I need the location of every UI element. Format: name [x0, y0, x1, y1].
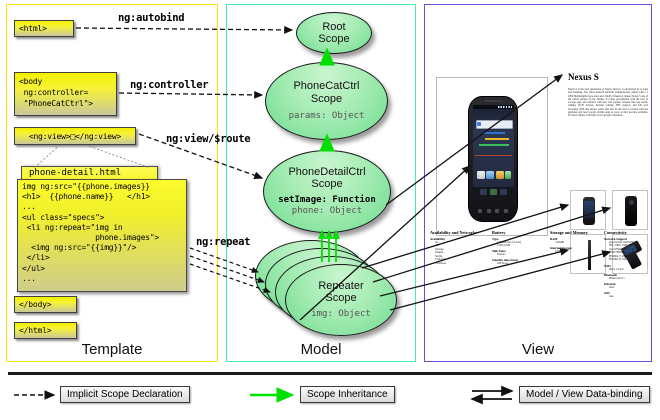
scope-repeater-prop-img: img: Object	[311, 309, 371, 320]
view-spec-value-1-0-1: 1500 mAH	[492, 244, 544, 248]
legend-label-model-view-data-binding: Model / View Data-binding	[519, 386, 650, 403]
tag-ngview: <ng:view>□</ng:view>	[14, 127, 136, 145]
scope-phonecatctrl-title: PhoneCatCtrl Scope	[293, 80, 359, 105]
view-spec-heading-2: Storage and Memory	[550, 230, 602, 235]
tag-body-controller: <body ng:controller= "PhoneCatCtrl">	[14, 72, 117, 116]
view-spec-heading-0: Availability and Networks	[430, 230, 480, 235]
scope-phonecatctrl-prop-params: params: Object	[289, 111, 365, 122]
note-code: img ng:src="{{phone.images}} <h1> {{phon…	[17, 179, 187, 292]
scope-repeater: Repeater Scope img: Object	[285, 264, 397, 336]
scope-root: Root Scope	[296, 12, 372, 54]
view-spec-column-3: Connectivity Network Support Quad-band G…	[604, 230, 654, 298]
view-spec-heading-1: Battery	[492, 230, 544, 235]
view-spec-column-0: Availability and Networks Availability 3…	[430, 230, 480, 266]
column-label-model: Model	[227, 341, 415, 358]
view-product-description: Nexus S is the next generation of Nexus …	[568, 88, 648, 118]
scope-phonedetailctrl-prop-phone: phone: Object	[292, 206, 362, 217]
view-thumbnail-1[interactable]	[570, 190, 606, 230]
scope-phonedetailctrl-title: PhoneDetailCtrl Scope	[288, 166, 365, 191]
view-spec-value-3-4-0: true	[604, 295, 654, 299]
view-phone-card	[436, 77, 548, 236]
label-ng-view-route: ng:view/$route	[166, 133, 250, 145]
view-spec-value-3-1-0: 802.11 b/g/n	[604, 268, 654, 272]
view-spec-column-2: Storage and Memory RAM 512MB Internal St…	[550, 230, 602, 253]
tag-body-close: </body>	[14, 296, 77, 313]
label-ng-repeat: ng:repeat	[196, 236, 250, 248]
angular-scope-diagram: Template Model View <html> <body ng:cont…	[0, 0, 660, 420]
view-spec-value-3-2-0: Bluetooth 2.1	[604, 277, 654, 281]
column-label-view: View	[425, 341, 651, 358]
view-spec-value-2-1-0: 16384MB	[550, 250, 602, 254]
column-label-template: Template	[7, 341, 217, 358]
view-spec-value-1-1-0: 6 hours	[492, 253, 544, 257]
view-spec-value-3-0-5: HSUPA (5.76Mbps)	[604, 258, 654, 262]
scope-phonecatctrl: PhoneCatCtrl Scope params: Object	[265, 62, 388, 140]
tag-html-close: </html>	[14, 322, 77, 339]
view-spec-value-3-3-0: false	[604, 286, 654, 290]
scope-repeater-title: Repeater Scope	[318, 280, 363, 305]
note-phone-detail-html: phone-detail.html img ng:src="{{phone.im…	[17, 166, 187, 292]
tag-html-open: <html>	[14, 20, 74, 37]
legend-divider	[8, 372, 652, 375]
view-thumbnail-2[interactable]	[612, 190, 648, 230]
view-product-title: Nexus S	[568, 72, 599, 82]
scope-root-title: Root Scope	[318, 21, 349, 46]
view-spec-heading-3: Connectivity	[604, 230, 654, 235]
view-spec-value-1-2-0: 428 hours	[492, 262, 544, 266]
scope-phonedetailctrl-prop-setimage: setImage: Function	[278, 195, 376, 206]
view-spec-value-2-0-0: 512MB	[550, 241, 602, 245]
label-ng-controller: ng:controller	[130, 79, 208, 91]
scope-phonedetailctrl: PhoneDetailCtrl Scope setImage: Function…	[263, 150, 391, 233]
legend-label-scope-inheritance: Scope Inheritance	[300, 386, 395, 403]
view-spec-column-1: Battery Type Lithium Ion (Li-Ion) 1500 m…	[492, 230, 544, 266]
legend-icon-model-view-data-binding	[472, 391, 512, 399]
legend-label-implicit-scope-declaration: Implicit Scope Declaration	[60, 386, 190, 403]
phone-device-image	[468, 96, 518, 222]
view-spec-value-0-0-2: Orange, Singtel, Sprint, T-Mobile, Vodaf…	[430, 248, 480, 266]
label-ng-autobind: ng:autobind	[118, 12, 184, 24]
